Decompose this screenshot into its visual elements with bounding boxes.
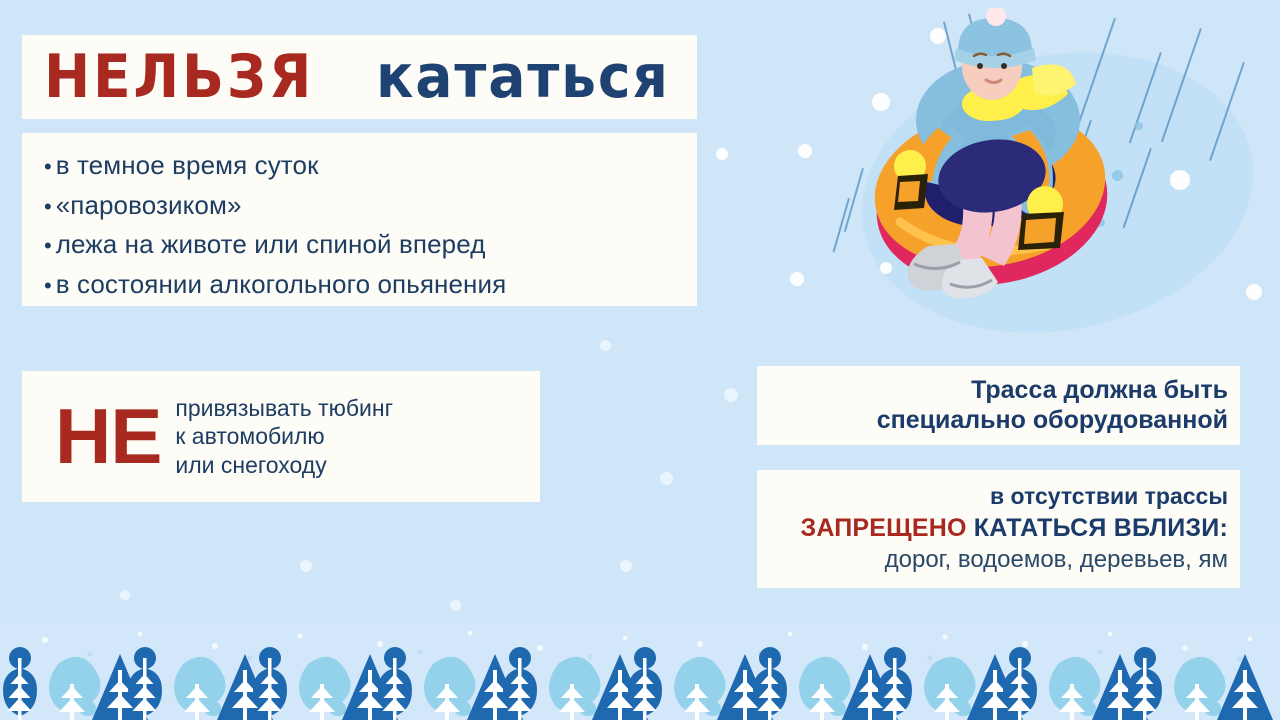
track-requirement-line: Трасса должна быть [971, 376, 1228, 406]
bullet-dot-icon: • [44, 196, 52, 218]
snow-dot [120, 590, 130, 600]
list-item: • лежа на животе или спиной вперед [44, 225, 697, 265]
snow-dot [620, 560, 632, 572]
no-tow-line: или снегоходу [175, 451, 393, 479]
forbidden-word: ЗАПРЕЩЕНО [800, 514, 966, 542]
infographic-canvas: НЕЛЬЗЯ кататься • в темное время суток •… [0, 0, 1280, 720]
winter-forest-border [0, 624, 1280, 720]
snow-dot [798, 144, 812, 158]
list-item-label: в темное время суток [56, 146, 319, 186]
no-tow-line: привязывать тюбинг [175, 394, 393, 422]
list-item-label: в состоянии алкогольного опьянения [56, 265, 507, 305]
prohibitions-list-panel: • в темное время суток • «паровозиком» •… [22, 133, 697, 306]
snow-dot [790, 272, 804, 286]
snow-dot [660, 472, 673, 485]
forbidden-near-panel: в отсутствии трассы ЗАПРЕЩЕНО КАТАТЬСЯ В… [757, 470, 1240, 588]
no-tow-panel: НЕ привязывать тюбинг к автомобилю или с… [22, 371, 540, 502]
bullet-dot-icon: • [44, 156, 52, 178]
title-panel: НЕЛЬЗЯ кататься [22, 35, 697, 119]
child-sledding-illustration [840, 8, 1170, 318]
list-item: • в темное время суток [44, 146, 697, 186]
list-item-label: «паровозиком» [56, 186, 242, 226]
snow-dot [300, 560, 312, 572]
snow-dot [724, 388, 738, 402]
track-requirement-line: специально оборудованной [877, 406, 1228, 436]
track-requirement-panel: Трасса должна быть специально оборудован… [757, 366, 1240, 445]
snow-dot [450, 600, 461, 611]
no-tow-text: привязывать тюбинг к автомобилю или снег… [175, 394, 393, 478]
snow-dot [716, 148, 728, 160]
forbidden-near-intro: в отсутствии трассы [990, 481, 1228, 511]
list-item-label: лежа на животе или спиной вперед [56, 225, 486, 265]
forbidden-near-headline: ЗАПРЕЩЕНО КАТАТЬСЯ ВБЛИЗИ: [800, 512, 1228, 545]
snow-dot [1170, 170, 1190, 190]
bullet-dot-icon: • [44, 235, 52, 257]
list-item: • «паровозиком» [44, 186, 697, 226]
bullet-dot-icon: • [44, 275, 52, 297]
forbidden-near-phrase: КАТАТЬСЯ ВБЛИЗИ: [974, 514, 1228, 542]
title-word-nelzya: НЕЛЬЗЯ [44, 47, 314, 107]
snow-dot [1246, 284, 1262, 300]
snow-dot [600, 340, 611, 351]
no-tow-big-word: НЕ [55, 405, 161, 469]
forbidden-near-objects: дорог, водоемов, деревьев, ям [885, 544, 1228, 576]
title-word-katatsya: кататься [376, 47, 670, 107]
list-item: • в состоянии алкогольного опьянения [44, 265, 697, 305]
no-tow-line: к автомобилю [175, 422, 393, 450]
